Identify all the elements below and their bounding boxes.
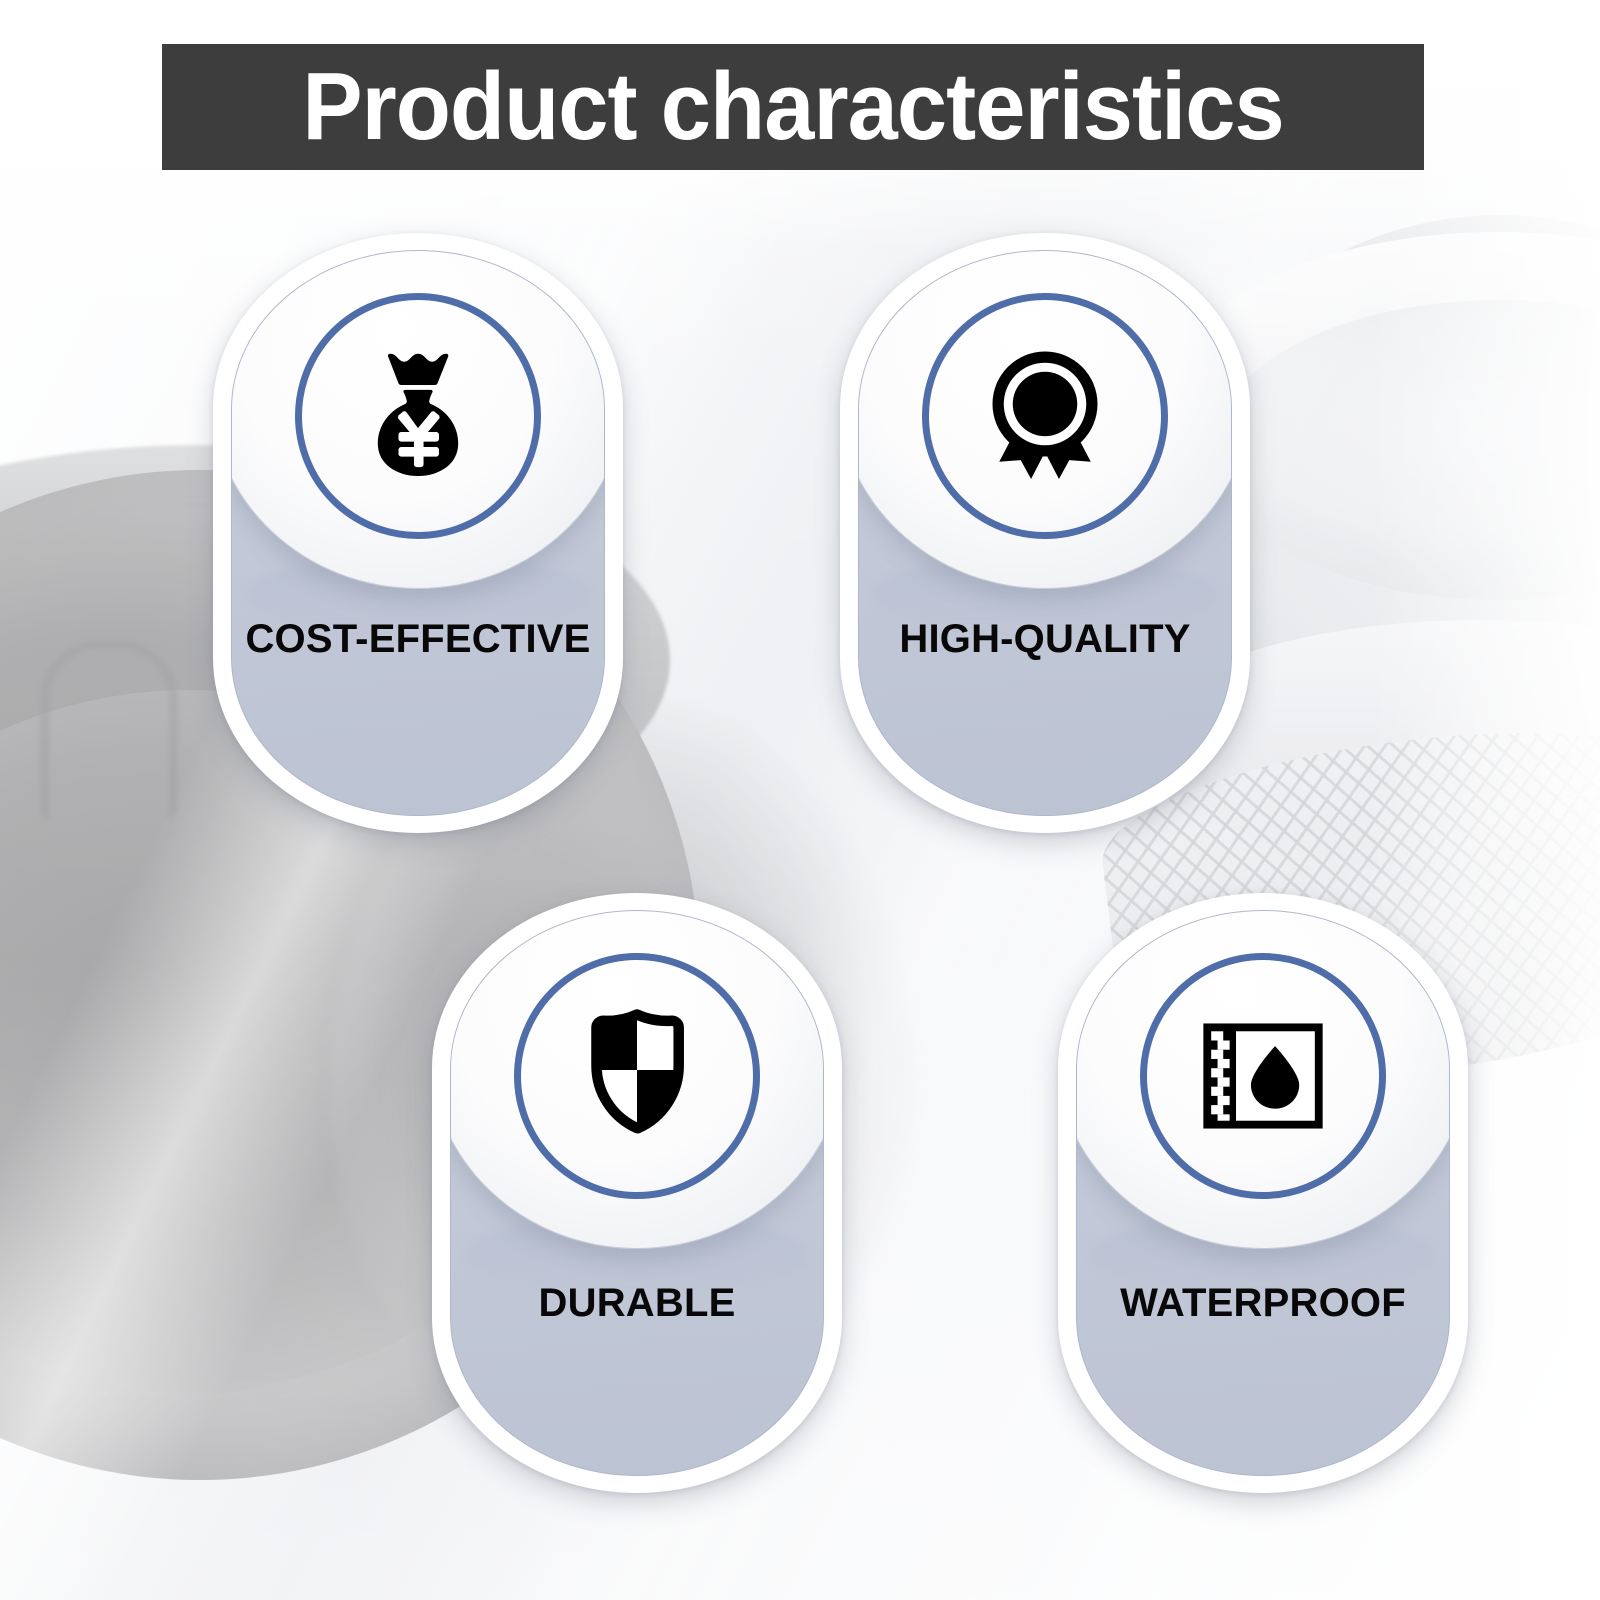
feature-card-body: COST-EFFECTIVE	[231, 250, 605, 816]
feature-card-cost-effective[interactable]: COST-EFFECTIVE	[213, 233, 623, 833]
feature-card-body: HIGH-QUALITY	[858, 250, 1232, 816]
infographic-canvas: Product characteristics COST-EFFECTIVE	[0, 0, 1600, 1600]
waterproof-fabric-droplet-icon	[1192, 1005, 1334, 1147]
page-title-bar: Product characteristics	[162, 44, 1424, 170]
feature-card-label: DURABLE	[451, 1281, 823, 1326]
page-title: Product characteristics	[302, 59, 1283, 155]
icon-ring	[922, 293, 1168, 539]
icon-ring	[514, 953, 760, 1199]
icon-ring	[1140, 953, 1386, 1199]
money-bag-yen-icon	[343, 341, 493, 491]
feature-card-high-quality[interactable]: HIGH-QUALITY	[840, 233, 1250, 833]
feature-card-waterproof[interactable]: WATERPROOF	[1058, 893, 1468, 1493]
feature-card-label: WATERPROOF	[1077, 1281, 1449, 1326]
feature-card-label: HIGH-QUALITY	[859, 617, 1231, 662]
feature-card-body: DURABLE	[450, 910, 824, 1476]
background-disc-notch	[40, 640, 178, 819]
icon-ring	[295, 293, 541, 539]
shield-checkered-icon	[562, 1001, 712, 1151]
feature-card-durable[interactable]: DURABLE	[432, 893, 842, 1493]
feature-card-body: WATERPROOF	[1076, 910, 1450, 1476]
feature-card-label: COST-EFFECTIVE	[232, 617, 604, 662]
award-ribbon-icon	[970, 341, 1120, 491]
